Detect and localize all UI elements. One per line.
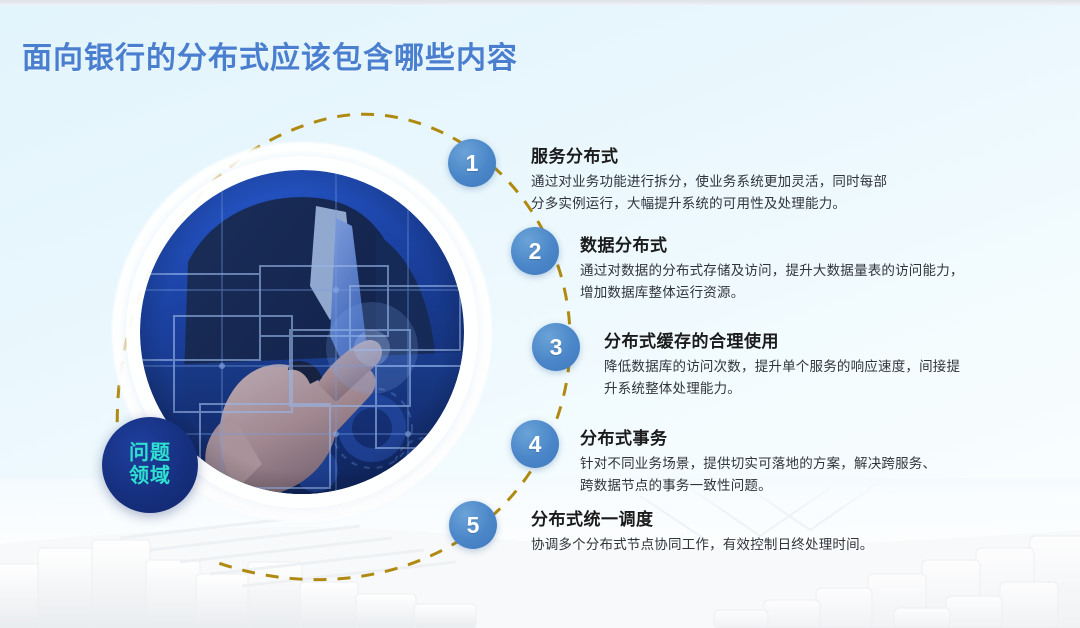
- step-body-3: 降低数据库的访问次数，提升单个服务的响应速度，间接提 升系统整体处理能力。: [604, 356, 960, 400]
- badge-line-2: 领域: [129, 465, 171, 488]
- step-node-4[interactable]: 4: [511, 420, 559, 468]
- step-text-1: 服务分布式 通过对业务功能进行拆分，使业务系统更加灵活，同时每部 分多实例运行，…: [531, 142, 887, 215]
- step-text-3: 分布式缓存的合理使用 降低数据库的访问次数，提升单个服务的响应速度，间接提 升系…: [604, 327, 960, 400]
- step-body-2: 通过对数据的分布式存储及访问，提升大数据量表的访问能力， 增加数据库整体运行资源…: [580, 260, 964, 304]
- step-heading-4: 分布式事务: [580, 424, 936, 449]
- step-node-1[interactable]: 1: [448, 139, 496, 187]
- step-heading-3: 分布式缓存的合理使用: [604, 327, 960, 352]
- problem-domain-badge: 问题 领域: [102, 417, 198, 513]
- step-number-1: 1: [466, 150, 479, 177]
- step-text-2: 数据分布式 通过对数据的分布式存储及访问，提升大数据量表的访问能力， 增加数据库…: [580, 231, 964, 304]
- step-body-5: 协调多个分布式节点协同工作，有效控制日终处理时间。: [531, 534, 874, 556]
- step-node-2[interactable]: 2: [511, 227, 559, 275]
- step-heading-5: 分布式统一调度: [531, 505, 874, 530]
- step-node-3[interactable]: 3: [532, 323, 580, 371]
- slide-title: 面向银行的分布式应该包含哪些内容: [22, 33, 518, 77]
- step-text-4: 分布式事务 针对不同业务场景，提供切实可落地的方案，解决跨服务、 跨数据节点的事…: [580, 424, 936, 497]
- step-number-3: 3: [550, 334, 563, 361]
- step-body-1: 通过对业务功能进行拆分，使业务系统更加灵活，同时每部 分多实例运行，大幅提升系统…: [531, 171, 887, 215]
- step-body-4: 针对不同业务场景，提供切实可落地的方案，解决跨服务、 跨数据节点的事务一致性问题…: [580, 453, 936, 497]
- slide-canvas: 面向银行的分布式应该包含哪些内容: [0, 0, 1080, 628]
- step-heading-2: 数据分布式: [580, 231, 964, 256]
- step-number-4: 4: [529, 431, 542, 458]
- step-text-5: 分布式统一调度 协调多个分布式节点协同工作，有效控制日终处理时间。: [531, 505, 874, 556]
- badge-line-1: 问题: [129, 442, 171, 465]
- step-number-2: 2: [529, 238, 542, 265]
- step-node-5[interactable]: 5: [449, 501, 497, 549]
- step-number-5: 5: [467, 512, 480, 539]
- step-heading-1: 服务分布式: [531, 142, 887, 167]
